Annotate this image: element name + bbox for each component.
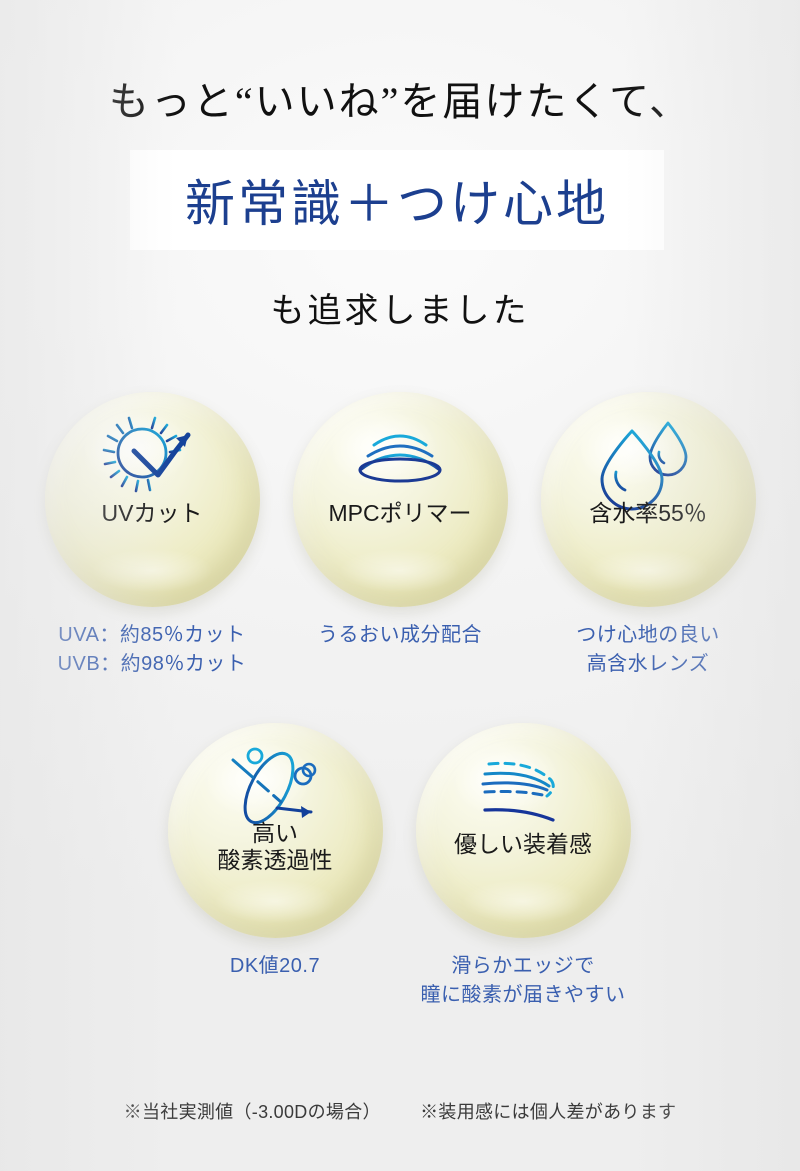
feature-mpc-polymer: MPCポリマー うるおい成分配合 (285, 392, 515, 650)
feature-bubble: 含水率55％ (541, 392, 756, 607)
headline-highlight-box: 新常識＋つけ心地 (130, 150, 664, 250)
uv-cut-icon (96, 409, 208, 505)
footnote-measurement: ※当社実測値（-3.00Dの場合） (124, 1102, 381, 1122)
feature-label-line-1: 高い (168, 820, 383, 847)
footnotes: ※当社実測値（-3.00Dの場合） ※装用感には個人差があります (0, 1098, 800, 1124)
caption-line-1: うるおい成分配合 (285, 621, 515, 650)
feature-caption: うるおい成分配合 (285, 621, 515, 650)
feature-label: 高い 酸素透過性 (168, 820, 383, 874)
feature-bubble: UVカット (45, 392, 260, 607)
feature-water-content: 含水率55％ つけ心地の良い 高含水レンズ (533, 392, 763, 679)
headline-area: もっと“いいね”を届けたくて、 (0, 0, 800, 124)
feature-label-line-2: 酸素透過性 (168, 847, 383, 874)
headline-line-1: もっと“いいね”を届けたくて、 (0, 80, 800, 124)
water-droplet-icon (592, 409, 704, 505)
footnote-individual-difference: ※装用感には個人差があります (420, 1102, 676, 1122)
caption-line-1: つけ心地の良い (533, 621, 763, 650)
lens-dome-icon (344, 409, 456, 505)
feature-bubble: 高い 酸素透過性 (168, 723, 383, 938)
feature-label: MPCポリマー (293, 500, 508, 527)
feature-bubble: 優しい装着感 (416, 723, 631, 938)
caption-line-1: 滑らかエッジで (408, 952, 638, 981)
feature-caption: DK値20.7 (160, 952, 390, 981)
caption-line-1: UVA：約85％カット (37, 621, 267, 650)
smooth-edge-icon (467, 740, 579, 836)
feature-smooth-edge: 優しい装着感 滑らかエッジで 瞳に酸素が届きやすい (408, 723, 638, 1010)
feature-caption: 滑らかエッジで 瞳に酸素が届きやすい (408, 952, 638, 1010)
feature-bubble: MPCポリマー (293, 392, 508, 607)
caption-line-2: 高含水レンズ (533, 650, 763, 679)
headline-line-3: も追求しました (0, 283, 800, 332)
caption-line-2: UVB：約98％カット (37, 650, 267, 679)
infographic-page: もっと“いいね”を届けたくて、 新常識＋つけ心地 も追求しました (0, 0, 800, 1171)
feature-label: 優しい装着感 (416, 831, 631, 858)
feature-label: 含水率55％ (541, 500, 756, 527)
feature-caption: UVA：約85％カット UVB：約98％カット (37, 621, 267, 679)
feature-oxygen-permeability: 高い 酸素透過性 DK値20.7 (160, 723, 390, 981)
feature-label: UVカット (45, 500, 260, 527)
feature-caption: つけ心地の良い 高含水レンズ (533, 621, 763, 679)
caption-line-2: 瞳に酸素が届きやすい (408, 981, 638, 1010)
feature-uv-cut: UVカット UVA：約85％カット UVB：約98％カット (37, 392, 267, 679)
headline-highlight-text: 新常識＋つけ心地 (185, 164, 609, 236)
caption-line-1: DK値20.7 (160, 952, 390, 981)
